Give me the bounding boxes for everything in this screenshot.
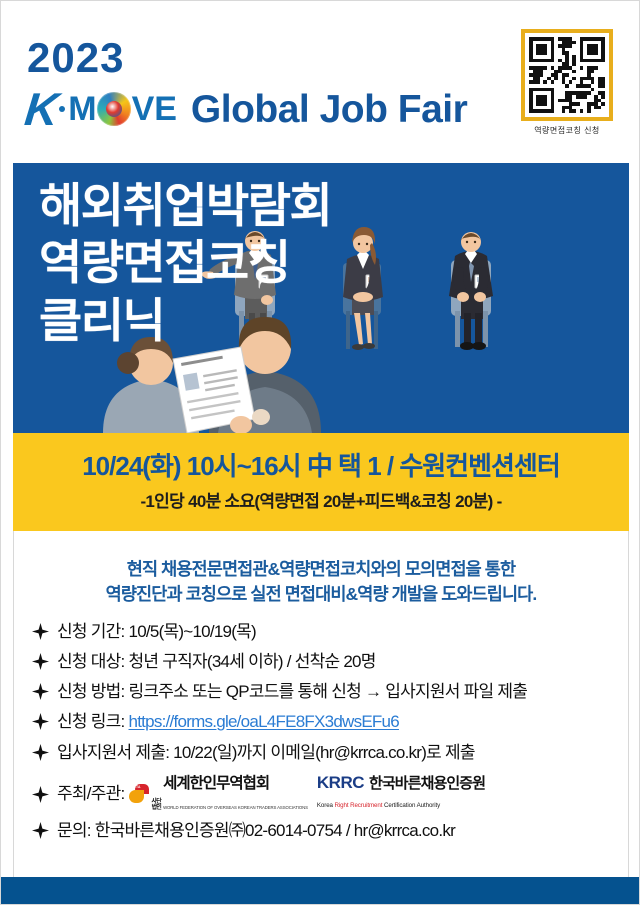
- poster: 2023 K M VE Global Job Fair 역량면접코칭 신청: [0, 0, 640, 905]
- qr-caption: 역량면접코칭 신청: [515, 125, 619, 136]
- intro-line-1: 현직 채용전문면접관&역량면접코치와의 모의면접을 통한: [14, 557, 628, 582]
- kmove-logo: K M VE Global Job Fair: [25, 83, 467, 135]
- four-point-star-icon: [32, 786, 49, 803]
- contact-value: 한국바른채용인증원㈜02-6014-0754 / hr@krrca.co.kr: [91, 821, 455, 840]
- target-label: 신청 대상:: [57, 652, 125, 671]
- okta-logo: OKTA 사단 법인 세계한인무역협회 WORLD FEDERATION OF …: [129, 772, 308, 815]
- apply-link-label: 신청 링크:: [57, 712, 125, 731]
- method-value: 링크주소 또는 QP코드를 통해 신청 → 입사지원서 파일 제출: [125, 682, 528, 701]
- intro-line-2: 역량진단과 코칭으로 실전 면접대비&역량 개발을 도와드립니다.: [14, 582, 628, 607]
- organizer-logos: OKTA 사단 법인 세계한인무역협회 WORLD FEDERATION OF …: [129, 772, 486, 815]
- krrc-wordmark: KRRC: [317, 774, 364, 791]
- hero-section: 해외취업박람회 역량면접코칭 클리닉: [13, 163, 629, 433]
- krrc-logo: KRRC 한국바른채용인증원 Korea Right Recruitment C…: [317, 774, 485, 812]
- qr-code[interactable]: [521, 29, 613, 121]
- list-item-method: 신청 방법: 링크주소 또는 QP코드를 통해 신청 → 입사지원서 파일 제출: [32, 681, 628, 702]
- kmove-dot-icon: [59, 106, 65, 112]
- four-point-star-icon: [32, 623, 49, 640]
- okta-korean-name: 세계한인무역협회: [163, 775, 269, 792]
- hero-title-line-1: 해외취업박람회: [39, 177, 331, 234]
- banner-sub-text: -1인당 40분 소요(역량면접 20분+피드백&코칭 20분) -: [140, 487, 501, 512]
- year-label: 2023: [27, 37, 124, 79]
- poster-header: 2023 K M VE Global Job Fair 역량면접코칭 신청: [1, 1, 640, 163]
- intro-paragraph: 현직 채용전문면접관&역량면접코치와의 모의면접을 통한 역량진단과 코칭으로 …: [14, 557, 628, 607]
- krrc-en-part-1: Korea: [317, 802, 335, 809]
- details-section: 현직 채용전문면접관&역량면접코치와의 모의면접을 통한 역량진단과 코칭으로 …: [13, 531, 629, 879]
- period-value: 10/5(목)~10/19(목): [125, 622, 256, 641]
- four-point-star-icon: [32, 683, 49, 700]
- period-label: 신청 기간:: [57, 622, 125, 641]
- contact-label: 문의:: [57, 821, 91, 840]
- apply-link-url[interactable]: https://forms.gle/oaL4FE8FX3dwsEFu6: [129, 712, 399, 731]
- host-label: 주최/주관:: [57, 784, 125, 803]
- krrc-korean-name: 한국바른채용인증원: [369, 776, 485, 791]
- four-point-star-icon: [32, 744, 49, 761]
- krrc-en-highlight: Right Recruitment: [335, 802, 383, 809]
- kmove-swirl-icon: [97, 92, 131, 126]
- resume-submit-label: 입사지원서 제출:: [57, 743, 169, 762]
- okta-prefix-1: 사단: [152, 799, 162, 805]
- date-venue-banner: 10/24(화) 10시~16시 中 택 1 / 수원컨벤션센터 -1인당 40…: [13, 433, 629, 531]
- krrc-english-name: Korea Right Recruitment Certification Au…: [317, 802, 440, 809]
- okta-english-name: WORLD FEDERATION OF OVERSEAS KOREAN TRAD…: [163, 805, 308, 810]
- four-point-star-icon: [32, 822, 49, 839]
- banner-main-text: 10/24(화) 10시~16시 中 택 1 / 수원컨벤션센터: [82, 452, 560, 481]
- hero-title: 해외취업박람회 역량면접코칭 클리닉: [39, 177, 331, 349]
- bullet-list: 신청 기간: 10/5(목)~10/19(목) 신청 대상: 청년 구직자(34…: [32, 621, 628, 842]
- krrc-en-part-2: Certification Authority: [382, 802, 440, 809]
- okta-mark-icon: OKTA: [129, 784, 149, 803]
- list-item-resume-submit: 입사지원서 제출: 10/22(일)까지 이메일(hr@krrca.co.kr)…: [32, 742, 628, 763]
- hero-title-line-2: 역량면접코칭: [39, 234, 331, 291]
- interviewee-woman: [343, 227, 383, 350]
- list-item-contact: 문의: 한국바른채용인증원㈜02-6014-0754 / hr@krrca.co…: [32, 820, 628, 841]
- list-item-apply-link[interactable]: 신청 링크: https://forms.gle/oaL4FE8FX3dwsEF…: [32, 711, 628, 732]
- kmove-ve-letters: VE: [132, 92, 177, 126]
- qr-block[interactable]: 역량면접코칭 신청: [515, 29, 619, 136]
- okta-prefix-2: 법인: [152, 805, 162, 811]
- interviewee-black-suit: [449, 232, 493, 350]
- kmove-m-letter: M: [68, 92, 95, 126]
- list-item-host: 주최/주관: OKTA 사단 법인: [32, 772, 628, 815]
- resume-submit-value: 10/22(일)까지 이메일(hr@krrca.co.kr)로 제출: [169, 743, 475, 762]
- qr-grid: [529, 37, 605, 113]
- global-job-fair-title: Global Job Fair: [191, 90, 467, 129]
- four-point-star-icon: [32, 653, 49, 670]
- list-item-target: 신청 대상: 청년 구직자(34세 이하) / 선착순 20명: [32, 651, 628, 672]
- footer-bar: [1, 877, 640, 904]
- list-item-period: 신청 기간: 10/5(목)~10/19(목): [32, 621, 628, 642]
- hero-title-line-3: 클리닉: [39, 292, 331, 349]
- four-point-star-icon: [32, 713, 49, 730]
- target-value: 청년 구직자(34세 이하) / 선착순 20명: [125, 652, 376, 671]
- method-label: 신청 방법:: [57, 682, 125, 701]
- kmove-k-letter: K: [23, 86, 60, 132]
- okta-badge-text: OKTA: [131, 785, 141, 789]
